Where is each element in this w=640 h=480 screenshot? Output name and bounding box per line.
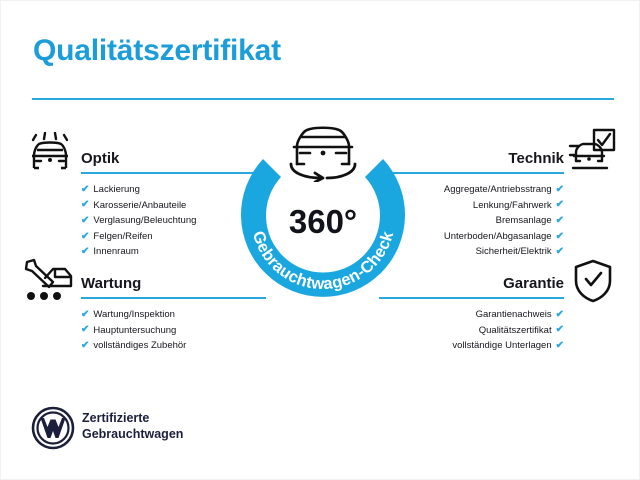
list-item: ✔vollständiges Zubehör (81, 338, 266, 354)
title-divider (32, 98, 614, 100)
list-item: vollständige Unterlagen✔ (379, 338, 564, 354)
check-icon: ✔ (81, 232, 89, 242)
list-item-label: Aggregate/Antriebsstrang (444, 182, 552, 198)
check-icon: ✔ (81, 247, 89, 257)
check-icon: ✔ (556, 310, 564, 320)
car-front-lights-icon (26, 132, 74, 179)
shield-check-icon (572, 258, 614, 309)
check-icon: ✔ (556, 247, 564, 257)
check-icon: ✔ (556, 185, 564, 195)
volkswagen-logo (31, 406, 75, 450)
list-item-label: Lenkung/Fahrwerk (473, 198, 552, 214)
check-icon: ✔ (556, 200, 564, 210)
list-item-label: Wartung/Inspektion (93, 307, 175, 323)
check-icon: ✔ (556, 341, 564, 351)
check-icon: ✔ (556, 325, 564, 335)
check-icon: ✔ (556, 216, 564, 226)
list-item-label: Lackierung (93, 182, 139, 198)
list-item-label: Hauptuntersuchung (93, 323, 176, 339)
list-item-label: vollständige Unterlagen (452, 338, 551, 354)
car-rotation-icon (277, 120, 369, 182)
check-icon: ✔ (81, 185, 89, 195)
check-icon: ✔ (81, 310, 89, 320)
car-lift-checkbox-icon (567, 128, 617, 179)
wrench-car-icon (23, 258, 77, 307)
footer-line-2: Gebrauchtwagen (82, 426, 183, 442)
check-icon: ✔ (556, 232, 564, 242)
footer-line-1: Zertifizierte (82, 410, 183, 426)
footer-brand-text: Zertifizierte Gebrauchtwagen (82, 410, 183, 442)
check-icon: ✔ (81, 341, 89, 351)
list-item-label: Karosserie/Anbauteile (93, 198, 186, 214)
list-item-label: Sicherheit/Elektrik (476, 244, 552, 260)
list-item: ✔Hauptuntersuchung (81, 323, 266, 339)
check-icon: ✔ (81, 200, 89, 210)
certificate-page: Qualitätszertifikat (0, 0, 640, 480)
list-item-label: vollständiges Zubehör (93, 338, 186, 354)
badge-degrees: 360° (225, 203, 421, 241)
list-item: Qualitätszertifikat✔ (379, 323, 564, 339)
list-item-label: Bremsanlage (496, 213, 552, 229)
list-item-label: Garantienachweis (476, 307, 552, 323)
list-item-label: Innenraum (93, 244, 138, 260)
list-item-label: Qualitätszertifikat (479, 323, 552, 339)
list-item-label: Unterboden/Abgasanlage (444, 229, 552, 245)
list-item-label: Verglasung/Beleuchtung (93, 213, 196, 229)
page-title: Qualitätszertifikat (33, 34, 281, 68)
list-item-label: Felgen/Reifen (93, 229, 152, 245)
check-icon: ✔ (81, 216, 89, 226)
check-icon: ✔ (81, 325, 89, 335)
